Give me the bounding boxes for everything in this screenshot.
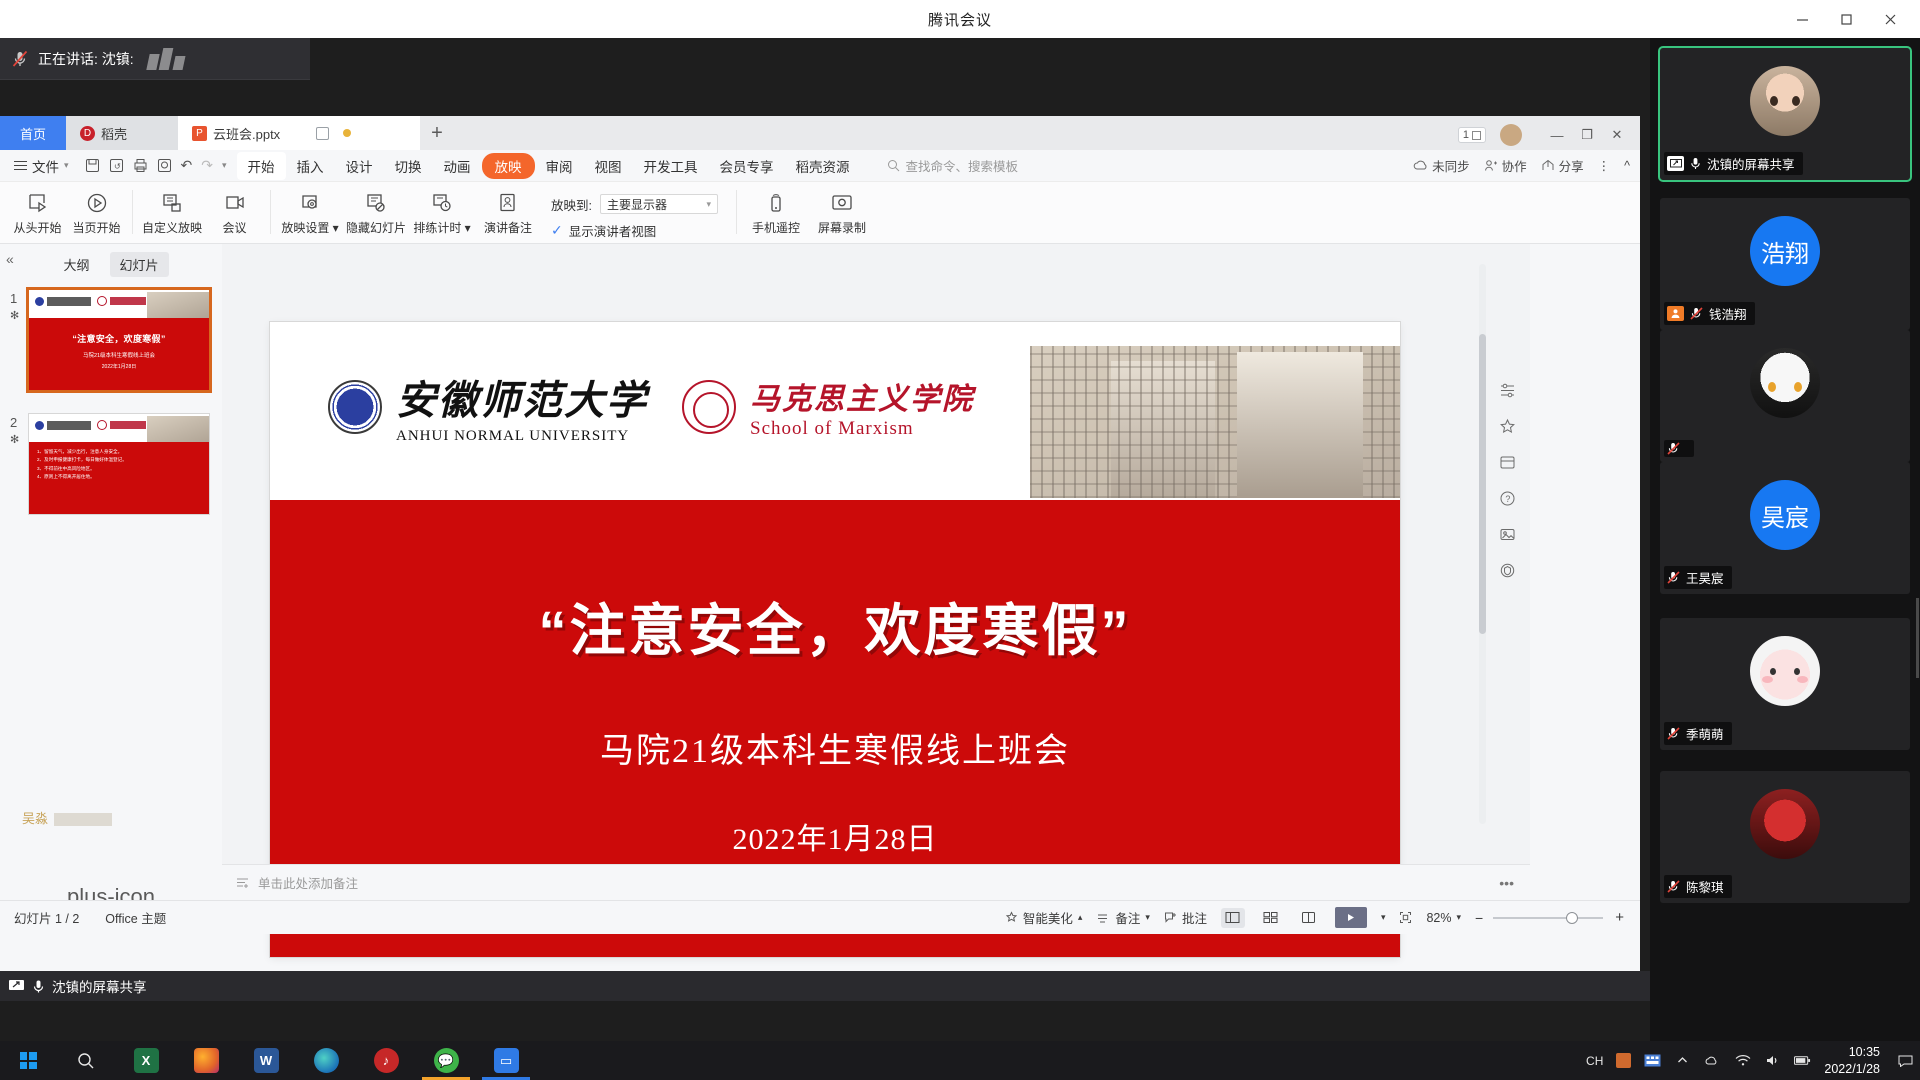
redo-icon[interactable]: ↷ bbox=[201, 157, 213, 174]
wps-close-icon[interactable]: ✕ bbox=[1602, 120, 1632, 150]
thumb2-line-4: 4、原则上不得离开居住地。 bbox=[37, 473, 201, 481]
ribbon-tab-insert[interactable]: 插入 bbox=[286, 152, 335, 180]
collaborate-button[interactable]: 协作 bbox=[1484, 156, 1527, 175]
participant-name-0: 沈镇的屏幕共享 bbox=[1707, 154, 1795, 173]
thumb-title-1: “注意安全，欢度寒假” bbox=[29, 332, 209, 345]
slide-thumbnail-1[interactable]: “注意安全，欢度寒假” 马院21级本科生寒假线上班会 2022年1月28日 bbox=[28, 289, 210, 391]
notes-placeholder: 单击此处添加备注 bbox=[258, 873, 358, 892]
screen-share-icon bbox=[1667, 156, 1684, 171]
participant-name-1: 钱浩翔 bbox=[1709, 304, 1747, 323]
meeting-titlebar: 腾讯会议 bbox=[0, 0, 1920, 38]
docer-icon: D bbox=[80, 126, 95, 141]
frame-rail-icon[interactable] bbox=[1499, 454, 1516, 476]
ribbon-tab-start[interactable]: 开始 bbox=[237, 152, 286, 180]
close-icon[interactable] bbox=[1868, 0, 1912, 38]
tab-count-value: 1 bbox=[1463, 129, 1469, 141]
shield-rail-icon[interactable] bbox=[1499, 562, 1516, 584]
chevron-up-tray-icon[interactable] bbox=[1674, 1052, 1691, 1069]
toolbar-show-settings[interactable]: 放映设置 ▾ bbox=[277, 186, 343, 236]
theme-status[interactable]: Office 主题 bbox=[105, 908, 166, 927]
toolbar-phone-remote[interactable]: 手机遥控 bbox=[743, 186, 809, 236]
ribbon-tab-developer[interactable]: 开发工具 bbox=[633, 152, 709, 180]
collaborate-icon bbox=[1484, 159, 1498, 172]
shared-screen-area: 正在讲话: 沈镇: 首页 D 稻壳 P 云班会.pptx bbox=[0, 38, 1650, 1041]
ribbon-tab-review[interactable]: 审阅 bbox=[535, 152, 584, 180]
input-method-indicator[interactable]: CH bbox=[1586, 1054, 1603, 1068]
play-from-current-icon bbox=[85, 190, 109, 216]
screen-share-banner: 沈镇的屏幕共享 bbox=[0, 971, 1650, 1001]
participant-label-4: 季萌萌 bbox=[1664, 722, 1732, 745]
toolbar-projection-group: 放映到: 主要显示器 ▾ ✓ 显示演讲者视图 bbox=[551, 186, 718, 240]
start-slideshow-button[interactable] bbox=[1335, 907, 1367, 928]
school-of-marxism-seal-icon bbox=[682, 380, 736, 434]
search-command-input[interactable]: 查找命令、搜索模板 bbox=[887, 156, 1187, 175]
search-icon bbox=[887, 159, 900, 172]
chevron-down-icon: ▾ bbox=[64, 160, 69, 171]
mic-on-icon bbox=[1690, 157, 1701, 170]
wps-user-avatar[interactable] bbox=[1500, 124, 1522, 146]
tab-monitor-icon[interactable] bbox=[316, 127, 329, 140]
current-slide[interactable]: 安徽师范大学 ANHUI NORMAL UNIVERSITY 马克思主义学院 S… bbox=[270, 322, 1400, 957]
wps-tab-bar: 首页 D 稻壳 P 云班会.pptx + 1 bbox=[0, 116, 1640, 150]
wps-ribbon-tabs: 文件 ▾ ↺ ↶ ↷ ▾ 开始 插入 设计 切换 动画 放映 审阅 bbox=[0, 150, 1640, 182]
ribbon-right-actions: 未同步 协作 分享 ⋮ ^ bbox=[1413, 156, 1640, 175]
slide-number-2: 2 bbox=[10, 415, 17, 430]
slide-panel-tabs: « 大纲 幻灯片 bbox=[0, 244, 222, 283]
mic-on-icon bbox=[32, 979, 45, 994]
toolbar-hide-slide[interactable]: 隐藏幻灯片 bbox=[343, 186, 409, 236]
mic-off-icon bbox=[1667, 571, 1680, 584]
avatar bbox=[1750, 789, 1820, 859]
participant-label-5: 陈黎琪 bbox=[1664, 875, 1732, 898]
wps-status-bar: 幻灯片 1 / 2 Office 主题 智能美化 ▴ 备注 ▾ bbox=[0, 900, 1640, 934]
slide-sorter-icon[interactable] bbox=[1259, 908, 1283, 928]
participant-tile-5[interactable]: 陈黎琪 bbox=[1660, 771, 1910, 903]
collaborate-label: 协作 bbox=[1502, 156, 1527, 175]
participant-tile-1[interactable]: 浩翔 钱浩翔 bbox=[1660, 198, 1910, 330]
ribbon-tab-design[interactable]: 设计 bbox=[335, 152, 384, 180]
mic-off-icon bbox=[1667, 442, 1680, 455]
svg-text:↺: ↺ bbox=[114, 162, 121, 171]
cloud-sync-button[interactable]: 未同步 bbox=[1413, 156, 1470, 175]
toolbar-rehearse-label: 排练计时 bbox=[413, 221, 461, 235]
slide-subtitle: 马院21级本科生寒假线上班会 bbox=[600, 723, 1070, 772]
wps-slideshow-toolbar: 从头开始 当页开始 自定义放映 bbox=[0, 182, 1640, 244]
undo-icon[interactable]: ↶ bbox=[181, 157, 193, 174]
phone-remote-icon bbox=[764, 190, 788, 216]
screen-share-icon bbox=[8, 979, 25, 994]
ime-keyboard-icon[interactable] bbox=[1644, 1052, 1661, 1069]
chevrons-left-icon[interactable]: « bbox=[6, 251, 14, 267]
tab-file-label: 云班会.pptx bbox=[213, 124, 280, 143]
toolbar-meeting-label: 会议 bbox=[222, 219, 246, 236]
chat-name: 吴淼 bbox=[22, 811, 48, 826]
notes-icon bbox=[236, 877, 250, 889]
beautify-button[interactable]: 智能美化 ▴ bbox=[1005, 908, 1083, 927]
meeting-window-controls bbox=[1780, 0, 1912, 38]
zoom-out-button[interactable]: − bbox=[1475, 910, 1483, 926]
slideshow-dropdown-icon[interactable]: ▾ bbox=[1381, 912, 1386, 923]
hide-slide-icon bbox=[364, 190, 388, 216]
customize-icon[interactable]: ▾ bbox=[222, 160, 227, 171]
project-to-value: 主要显示器 bbox=[607, 196, 667, 213]
file-menu-button[interactable]: 文件 ▾ bbox=[8, 156, 75, 176]
avatar: 浩翔 bbox=[1750, 216, 1820, 286]
onedrive-tray-icon[interactable] bbox=[1704, 1052, 1721, 1069]
ribbon-tab-slideshow[interactable]: 放映 bbox=[482, 153, 535, 179]
search-placeholder: 查找命令、搜索模板 bbox=[906, 156, 1019, 175]
notification-icon[interactable] bbox=[1897, 1052, 1914, 1069]
clock-time: 10:35 bbox=[1824, 1044, 1880, 1061]
thumb2-line-1: 1、留留天气，减少出行，注意人身安全。 bbox=[37, 448, 201, 456]
clock-date: 2022/1/28 bbox=[1824, 1061, 1880, 1078]
wps-presentation-window: 首页 D 稻壳 P 云班会.pptx + 1 bbox=[0, 116, 1640, 996]
ribbon-tab-docer-resources[interactable]: 稻壳资源 bbox=[785, 152, 861, 180]
tencent-meeting-taskbar-icon[interactable]: ▭ bbox=[476, 1041, 536, 1080]
participant-label-0: 沈镇的屏幕共享 bbox=[1664, 152, 1803, 175]
normal-view-icon[interactable] bbox=[1221, 908, 1245, 928]
image-rail-icon[interactable] bbox=[1499, 526, 1516, 548]
school-name-cn: 马克思主义学院 bbox=[750, 374, 974, 418]
participants-panel: 沈镇的屏幕共享 浩翔 钱浩翔 bbox=[1650, 38, 1920, 1041]
presenter-view-label: 显示演讲者视图 bbox=[569, 221, 657, 240]
tab-home-label: 首页 bbox=[20, 124, 46, 143]
wps-restore-icon[interactable]: ❐ bbox=[1572, 120, 1602, 150]
powerpoint-icon: P bbox=[192, 126, 207, 141]
school-name-en: School of Marxism bbox=[750, 418, 974, 440]
slide-thumbnail-1-wrap: 1 ✻ “注意安全，欢度寒假” 马院21级本科生寒假线上班会 bbox=[0, 283, 222, 391]
share-button[interactable]: 分享 bbox=[1541, 156, 1584, 175]
ribbon-tab-member[interactable]: 会员专享 bbox=[709, 152, 785, 180]
tab-count-badge[interactable]: 1 bbox=[1458, 127, 1486, 143]
reading-view-icon[interactable] bbox=[1297, 908, 1321, 928]
print-icon[interactable] bbox=[133, 158, 148, 173]
participant-tile-0[interactable]: 沈镇的屏幕共享 bbox=[1660, 48, 1910, 180]
toolbar-hide-slide-label: 隐藏幻灯片 bbox=[346, 219, 406, 236]
mic-off-icon bbox=[1667, 880, 1680, 893]
project-to-select[interactable]: 主要显示器 ▾ bbox=[600, 194, 718, 214]
toolbar-screen-record[interactable]: 屏幕录制 bbox=[809, 186, 875, 236]
system-tray: CH 10:35 2022/1/28 bbox=[1586, 1044, 1920, 1078]
slide-title: “注意安全，欢度寒假” bbox=[539, 586, 1132, 667]
slide-logos: 安徽师范大学 ANHUI NORMAL UNIVERSITY 马克思主义学院 S… bbox=[328, 368, 974, 445]
notes-toggle-button[interactable]: 备注 ▾ bbox=[1096, 908, 1150, 927]
slide-thumbnail-2[interactable]: 1、留留天气，减少出行，注意人身安全。 2、及时申报健康打卡，每日做好体温登记。… bbox=[28, 413, 210, 515]
project-to-label: 放映到: bbox=[551, 195, 592, 214]
windows-start-icon[interactable] bbox=[0, 1041, 56, 1080]
thumb-header-2 bbox=[29, 414, 209, 442]
audio-wave-icon bbox=[148, 48, 184, 70]
taskbar-clock[interactable]: 10:35 2022/1/28 bbox=[1824, 1044, 1884, 1078]
tab-docer[interactable]: D 稻壳 bbox=[66, 116, 178, 150]
cloud-sync-icon bbox=[1413, 159, 1428, 172]
avatar bbox=[1750, 66, 1820, 136]
screen-record-icon bbox=[830, 190, 854, 216]
slide-animation-star-icon: ✻ bbox=[10, 309, 19, 322]
notes-toggle-label: 备注 bbox=[1115, 908, 1140, 927]
thumb-body-1: “注意安全，欢度寒假” 马院21级本科生寒假线上班会 2022年1月28日 bbox=[29, 318, 209, 390]
avatar bbox=[1750, 636, 1820, 706]
campus-building-photo bbox=[1030, 346, 1400, 498]
thumb-subtitle-1: 马院21级本科生寒假线上班会 bbox=[29, 351, 209, 359]
battery-tray-icon[interactable] bbox=[1794, 1052, 1811, 1069]
speaking-label: 正在讲话: 沈镇: bbox=[38, 49, 134, 69]
toolbar-meeting[interactable]: 会议 bbox=[205, 186, 264, 236]
avatar: 昊宸 bbox=[1750, 480, 1820, 550]
network-tray-icon[interactable] bbox=[1734, 1052, 1751, 1069]
slide-thumbnail-panel: « 大纲 幻灯片 1 ✻ bbox=[0, 244, 222, 864]
file-menu-label: 文件 bbox=[32, 156, 59, 176]
help-rail-icon[interactable]: ? bbox=[1499, 490, 1516, 512]
settings-rail-icon[interactable] bbox=[1499, 382, 1516, 404]
slide-number-1: 1 bbox=[10, 291, 17, 306]
zoom-value: 82% bbox=[1426, 911, 1451, 925]
ribbon-tab-view[interactable]: 视图 bbox=[584, 152, 633, 180]
notes-toggle-icon bbox=[1096, 912, 1110, 924]
mic-muted-icon bbox=[10, 49, 30, 69]
participant-label-1: 钱浩翔 bbox=[1664, 302, 1755, 325]
avatar-initials: 浩翔 bbox=[1761, 234, 1809, 269]
firefox-taskbar-icon[interactable] bbox=[176, 1041, 236, 1080]
excel-taskbar-icon[interactable]: X bbox=[116, 1041, 176, 1080]
thumb2-line-3: 3、不得前往中高风险地区。 bbox=[37, 465, 201, 473]
participant-name-3: 王昊宸 bbox=[1686, 568, 1724, 587]
fit-to-window-icon bbox=[1399, 911, 1412, 924]
new-tab-button[interactable]: + bbox=[420, 116, 454, 150]
ribbon-tab-transitions[interactable]: 切换 bbox=[384, 152, 433, 180]
slide-canvas-area: 安徽师范大学 ANHUI NORMAL UNIVERSITY 马克思主义学院 S… bbox=[222, 244, 1530, 864]
avatar-initials: 昊宸 bbox=[1761, 498, 1809, 533]
share-icon bbox=[1541, 159, 1555, 172]
more-vertical-icon[interactable]: ⋮ bbox=[1598, 158, 1611, 173]
avatar bbox=[1750, 348, 1820, 418]
toolbar-separator-3 bbox=[736, 190, 737, 234]
volume-tray-icon[interactable] bbox=[1764, 1052, 1781, 1069]
wps-minimize-icon[interactable]: — bbox=[1542, 120, 1572, 150]
slide-animation-star-icon-2: ✻ bbox=[10, 433, 19, 446]
toolbar-screen-record-label: 屏幕录制 bbox=[818, 219, 866, 236]
anhui-normal-university-seal-icon bbox=[328, 380, 382, 434]
tab-unsaved-dot-icon bbox=[343, 129, 351, 137]
star-rail-icon[interactable] bbox=[1499, 418, 1516, 440]
toolbar-speaker-notes[interactable]: 演讲备注 bbox=[475, 186, 541, 236]
ime-extra-icon[interactable] bbox=[1616, 1053, 1631, 1068]
speaker-notes-icon bbox=[496, 190, 520, 216]
chevron-down-icon: ▾ bbox=[706, 199, 711, 210]
slide-header-band: 安徽师范大学 ANHUI NORMAL UNIVERSITY 马克思主义学院 S… bbox=[270, 322, 1400, 500]
university-name-en: ANHUI NORMAL UNIVERSITY bbox=[396, 428, 648, 445]
thumb2-line-2: 2、及时申报健康打卡，每日做好体温登记。 bbox=[37, 456, 201, 464]
comments-button[interactable]: 批注 bbox=[1164, 908, 1207, 927]
participant-tile-3[interactable]: 昊宸 王昊宸 bbox=[1660, 462, 1910, 594]
slide-date: 2022年1月28日 bbox=[733, 814, 938, 858]
participant-name-5: 陈黎琪 bbox=[1686, 877, 1724, 896]
toolbar-separator bbox=[132, 190, 133, 234]
comment-icon bbox=[1164, 911, 1177, 924]
fit-to-window-button[interactable] bbox=[1399, 911, 1412, 924]
presenter-view-checkbox[interactable]: ✓ 显示演讲者视图 bbox=[551, 221, 718, 240]
tab-home[interactable]: 首页 bbox=[0, 116, 66, 150]
toolbar-speaker-notes-label: 演讲备注 bbox=[484, 219, 532, 236]
toolbar-from-start-label: 从头开始 bbox=[13, 219, 61, 236]
toolbar-from-start[interactable]: 从头开始 bbox=[8, 186, 67, 236]
zoom-in-button[interactable]: + bbox=[1615, 909, 1624, 926]
participant-label-3: 王昊宸 bbox=[1664, 566, 1732, 589]
slide-count-status: 幻灯片 1 / 2 bbox=[14, 908, 79, 927]
word-taskbar-icon[interactable]: W bbox=[236, 1041, 296, 1080]
notes-bar[interactable]: 单击此处添加备注 ••• bbox=[222, 864, 1530, 900]
search-icon[interactable] bbox=[56, 1041, 116, 1080]
zoom-slider[interactable]: − + bbox=[1475, 909, 1624, 926]
save-icon[interactable] bbox=[85, 158, 100, 173]
toolbar-from-current[interactable]: 当页开始 bbox=[67, 186, 126, 236]
share-label: 分享 bbox=[1559, 156, 1584, 175]
meeting-icon bbox=[223, 190, 247, 216]
thumb-header-1 bbox=[29, 290, 209, 318]
hamburger-icon bbox=[14, 161, 27, 171]
beautify-label: 智能美化 bbox=[1023, 908, 1073, 927]
thumb-body-2: 1、留留天气，减少出行，注意人身安全。 2、及时申报健康打卡，每日做好体温登记。… bbox=[29, 442, 209, 514]
beautify-icon bbox=[1005, 911, 1018, 924]
canvas-vertical-scrollbar[interactable] bbox=[1479, 264, 1486, 824]
more-horizontal-icon[interactable]: ••• bbox=[1499, 875, 1514, 891]
participant-label-2 bbox=[1664, 440, 1694, 457]
meeting-window-title: 腾讯会议 bbox=[928, 9, 992, 30]
ribbon-tab-animations[interactable]: 动画 bbox=[433, 152, 482, 180]
edge-taskbar-icon[interactable] bbox=[296, 1041, 356, 1080]
play-from-start-icon bbox=[26, 190, 50, 216]
toolbar-rehearse-timing[interactable]: 排练计时 ▾ bbox=[409, 186, 475, 236]
toolbar-from-current-label: 当页开始 bbox=[72, 219, 120, 236]
cloud-sync-label: 未同步 bbox=[1432, 156, 1470, 175]
participant-tile-4[interactable]: 季萌萌 bbox=[1660, 618, 1910, 750]
right-icon-rail: ? bbox=[1492, 382, 1522, 584]
thumb-date-1: 2022年1月28日 bbox=[29, 363, 209, 370]
toolbar-custom-show[interactable]: 自定义放映 bbox=[139, 186, 205, 236]
rehearse-timing-icon bbox=[430, 190, 454, 216]
comments-label: 批注 bbox=[1182, 908, 1207, 927]
slide-thumbnail-2-wrap: 2 ✻ 1、留留天气，减少出行，注意人身安全。 bbox=[0, 407, 222, 515]
custom-show-icon bbox=[160, 190, 184, 216]
print-preview-icon[interactable] bbox=[157, 158, 172, 173]
chevron-up-icon[interactable]: ^ bbox=[1624, 159, 1630, 173]
show-settings-icon bbox=[298, 190, 322, 216]
speaking-banner: 正在讲话: 沈镇: bbox=[0, 38, 310, 80]
quick-access-toolbar: ↺ ↶ ↷ ▾ bbox=[75, 157, 237, 174]
zoom-slider-knob[interactable] bbox=[1566, 912, 1578, 924]
tab-outline[interactable]: 大纲 bbox=[53, 252, 99, 277]
zoom-level[interactable]: 82% ▾ bbox=[1426, 911, 1461, 925]
mic-off-icon bbox=[1667, 727, 1680, 740]
toolbar-custom-show-label: 自定义放映 bbox=[142, 219, 202, 236]
tab-slides[interactable]: 幻灯片 bbox=[110, 252, 169, 277]
wechat-taskbar-icon[interactable]: 💬 bbox=[416, 1041, 476, 1080]
university-name-cn: 安徽师范大学 bbox=[396, 368, 648, 426]
participants-scrollbar[interactable] bbox=[1916, 598, 1919, 678]
save-as-icon[interactable]: ↺ bbox=[109, 158, 124, 173]
mic-off-icon bbox=[1690, 307, 1703, 320]
participant-name-4: 季萌萌 bbox=[1686, 724, 1724, 743]
tab-presentation-file[interactable]: P 云班会.pptx bbox=[178, 116, 420, 150]
chat-name-overlay: 吴淼 bbox=[22, 808, 112, 827]
check-icon: ✓ bbox=[551, 222, 563, 239]
maximize-icon[interactable] bbox=[1824, 0, 1868, 38]
participant-tile-2[interactable] bbox=[1660, 330, 1910, 462]
screen-share-label: 沈镇的屏幕共享 bbox=[52, 976, 147, 996]
toolbar-phone-remote-label: 手机遥控 bbox=[752, 219, 800, 236]
chevron-up-small-icon: ▴ bbox=[1078, 912, 1083, 923]
minimize-icon[interactable] bbox=[1780, 0, 1824, 38]
toolbar-separator-2 bbox=[270, 190, 271, 234]
netease-music-taskbar-icon[interactable]: ♪ bbox=[356, 1041, 416, 1080]
tab-docer-label: 稻壳 bbox=[101, 124, 127, 143]
windows-taskbar: X W ♪ 💬 ▭ CH bbox=[0, 1041, 1920, 1080]
svg-text:?: ? bbox=[1505, 494, 1510, 504]
toolbar-show-settings-label: 放映设置 bbox=[281, 221, 329, 235]
user-orange-icon bbox=[1667, 306, 1684, 321]
